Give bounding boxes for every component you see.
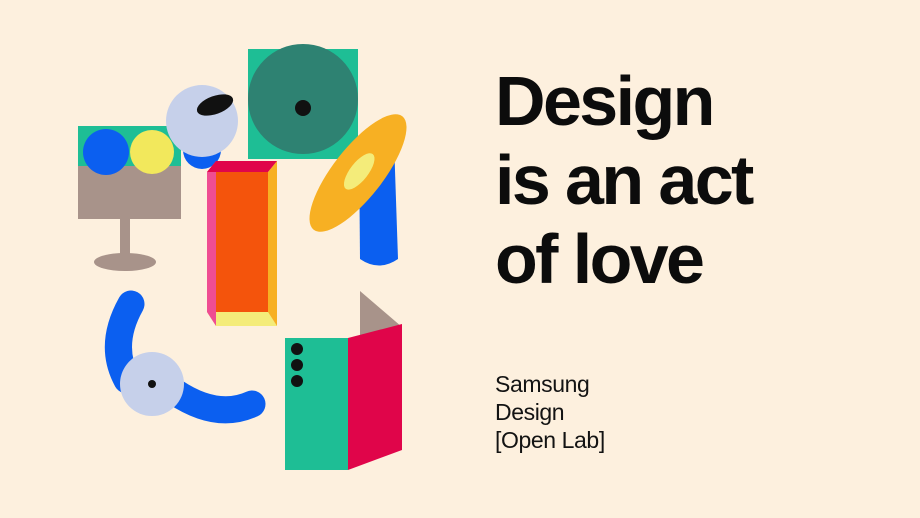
open-book-right-panel [348, 324, 402, 470]
illustration-artwork [0, 0, 470, 518]
dark-teal-disc [248, 44, 358, 154]
isometric-box-top [207, 161, 277, 172]
yellow-circle [130, 130, 174, 174]
book-dot-1 [291, 343, 303, 355]
isometric-box-left [207, 161, 216, 326]
blue-circle [83, 129, 129, 175]
subtitle-block: Samsung Design [Open Lab] [495, 370, 895, 454]
isometric-box-right [268, 161, 277, 326]
disc-center-dot [295, 100, 311, 116]
isometric-box-front [216, 172, 268, 312]
isometric-box [207, 161, 277, 326]
pedestal-stand [94, 218, 156, 271]
headline-line-2: is an act [495, 141, 895, 220]
propeller-hub-dot [148, 380, 156, 388]
poster-canvas: Design is an act of love Samsung Design … [0, 0, 920, 518]
headline-line-1: Design [495, 62, 895, 141]
subtitle-line-2: Design [495, 398, 895, 426]
subtitle-line-3: [Open Lab] [495, 426, 895, 454]
headline-line-3: of love [495, 220, 895, 299]
blue-propeller-arm-lower [175, 392, 252, 410]
open-book-left-panel [285, 338, 348, 470]
subtitle-line-1: Samsung [495, 370, 895, 398]
tan-panel [78, 166, 181, 219]
open-book [285, 291, 402, 470]
isometric-box-bottom [207, 312, 277, 326]
headline-block: Design is an act of love [495, 62, 895, 299]
book-dot-2 [291, 359, 303, 371]
book-dot-3 [291, 375, 303, 387]
